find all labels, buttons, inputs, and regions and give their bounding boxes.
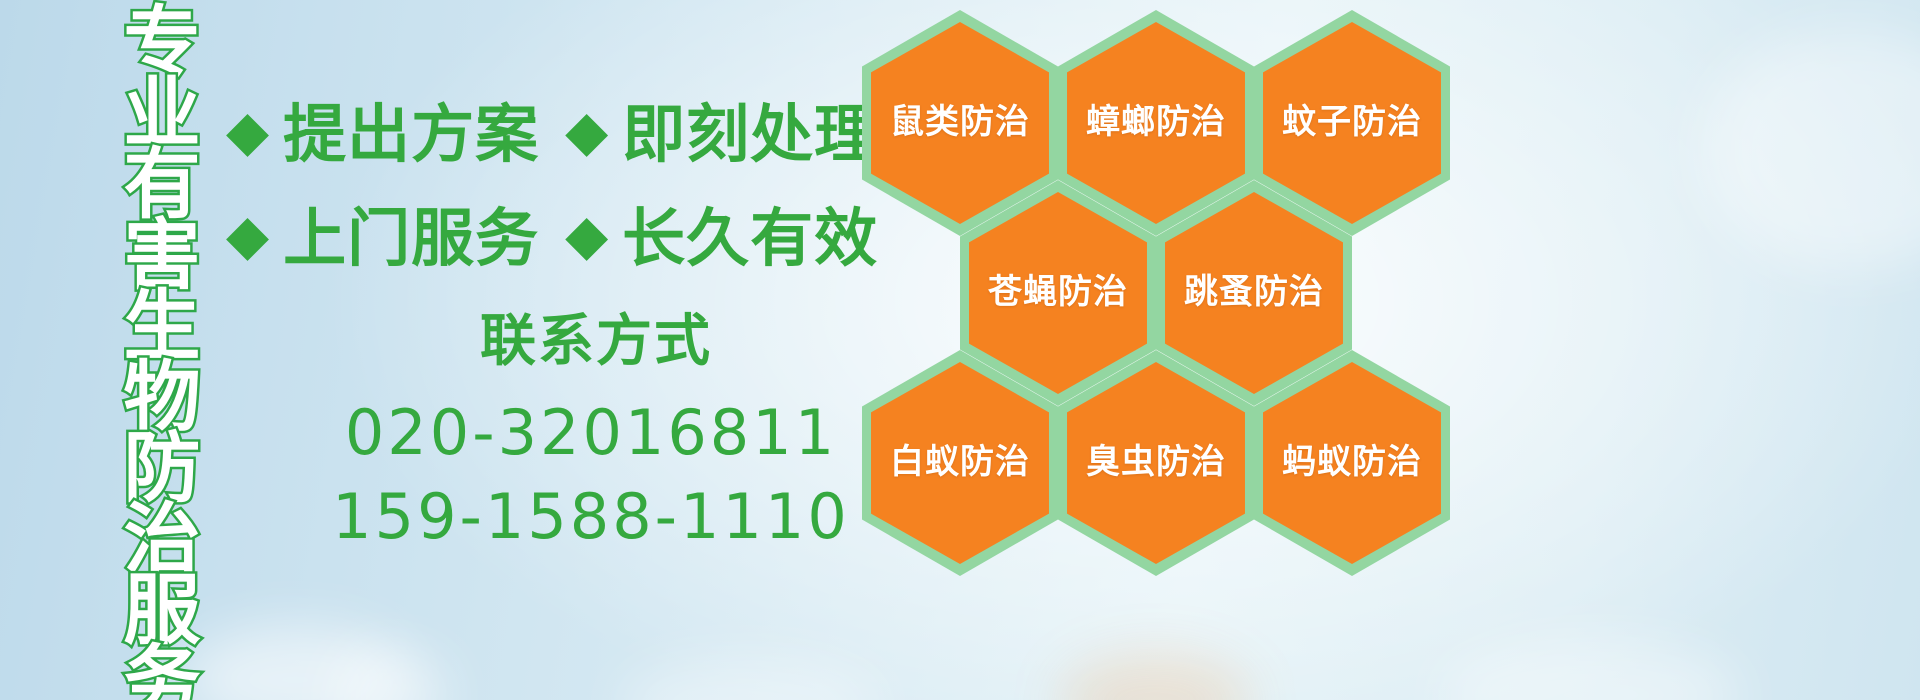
feature-row-1: ◆ 提出方案 ◆ 即刻处理 xyxy=(226,82,886,186)
contact-phone-landline[interactable]: 020-32016811 xyxy=(226,394,886,472)
service-hexagon-ant[interactable]: 蚂蚁防治 xyxy=(1254,350,1450,576)
background-bokeh-blob xyxy=(620,660,880,700)
service-label: 白蚁防治 xyxy=(890,444,1030,481)
contact-title: 联系方式 xyxy=(226,310,886,374)
service-label: 蚊子防治 xyxy=(1282,104,1422,141)
contact-phone-mobile[interactable]: 159-1588-1110 xyxy=(226,478,886,556)
service-label: 臭虫防治 xyxy=(1086,444,1226,481)
service-label: 蚂蚁防治 xyxy=(1282,444,1422,481)
service-label: 苍蝇防治 xyxy=(988,274,1128,311)
hexagon-fill: 白蚁防治 xyxy=(862,350,1058,576)
service-hexagon-termite[interactable]: 白蚁防治 xyxy=(862,350,1058,576)
feature-label-long-lasting: 长久有效 xyxy=(622,207,878,270)
diamond-bullet-icon: ◆ xyxy=(565,104,608,160)
feature-label-onsite-service: 上门服务 xyxy=(283,207,539,270)
service-hexagon-bedbug[interactable]: 臭虫防治 xyxy=(1058,350,1254,576)
feature-label-immediate-handling: 即刻处理 xyxy=(622,103,878,166)
vertical-headline-char: 有 xyxy=(124,150,201,221)
service-label: 鼠类防治 xyxy=(890,104,1030,141)
feature-list: ◆ 提出方案 ◆ 即刻处理 ◆ 上门服务 ◆ 长久有效 xyxy=(226,82,886,290)
contact-block: 联系方式 020-32016811 159-1588-1110 xyxy=(226,310,886,556)
vertical-headline-char: 物 xyxy=(124,363,201,434)
service-label: 跳蚤防治 xyxy=(1184,274,1324,311)
hexagon-fill: 蚂蚁防治 xyxy=(1254,350,1450,576)
pest-control-service-banner: 专 业 有 害 生 物 防 治 服 务 ◆ 提出方案 ◆ 即刻处理 ◆ 上门服务… xyxy=(0,0,1920,700)
hexagon-fill: 臭虫防治 xyxy=(1058,350,1254,576)
vertical-headline-char: 防 xyxy=(124,434,201,505)
vertical-headline-char: 业 xyxy=(124,79,201,150)
vertical-headline-char: 治 xyxy=(124,505,201,576)
vertical-headline-char: 害 xyxy=(124,221,201,292)
feature-label-propose-plan: 提出方案 xyxy=(283,103,539,166)
background-bokeh-blob xyxy=(1700,30,1920,270)
background-bokeh-blob xyxy=(1440,640,1740,700)
diamond-bullet-icon: ◆ xyxy=(226,208,269,264)
feature-row-2: ◆ 上门服务 ◆ 长久有效 xyxy=(226,186,886,290)
vertical-headline-char: 务 xyxy=(124,647,201,700)
vertical-headline: 专 业 有 害 生 物 防 治 服 务 xyxy=(108,8,216,698)
diamond-bullet-icon: ◆ xyxy=(226,104,269,160)
vertical-headline-char: 服 xyxy=(124,576,201,647)
background-bokeh-blob xyxy=(330,650,450,700)
service-honeycomb-grid: 鼠类防治 蟑螂防治 蚊子防治 苍蝇防治 跳蚤防治 xyxy=(862,0,1462,700)
vertical-headline-char: 生 xyxy=(124,292,201,363)
service-label: 蟑螂防治 xyxy=(1086,104,1226,141)
vertical-headline-char: 专 xyxy=(124,8,201,79)
diamond-bullet-icon: ◆ xyxy=(565,208,608,264)
